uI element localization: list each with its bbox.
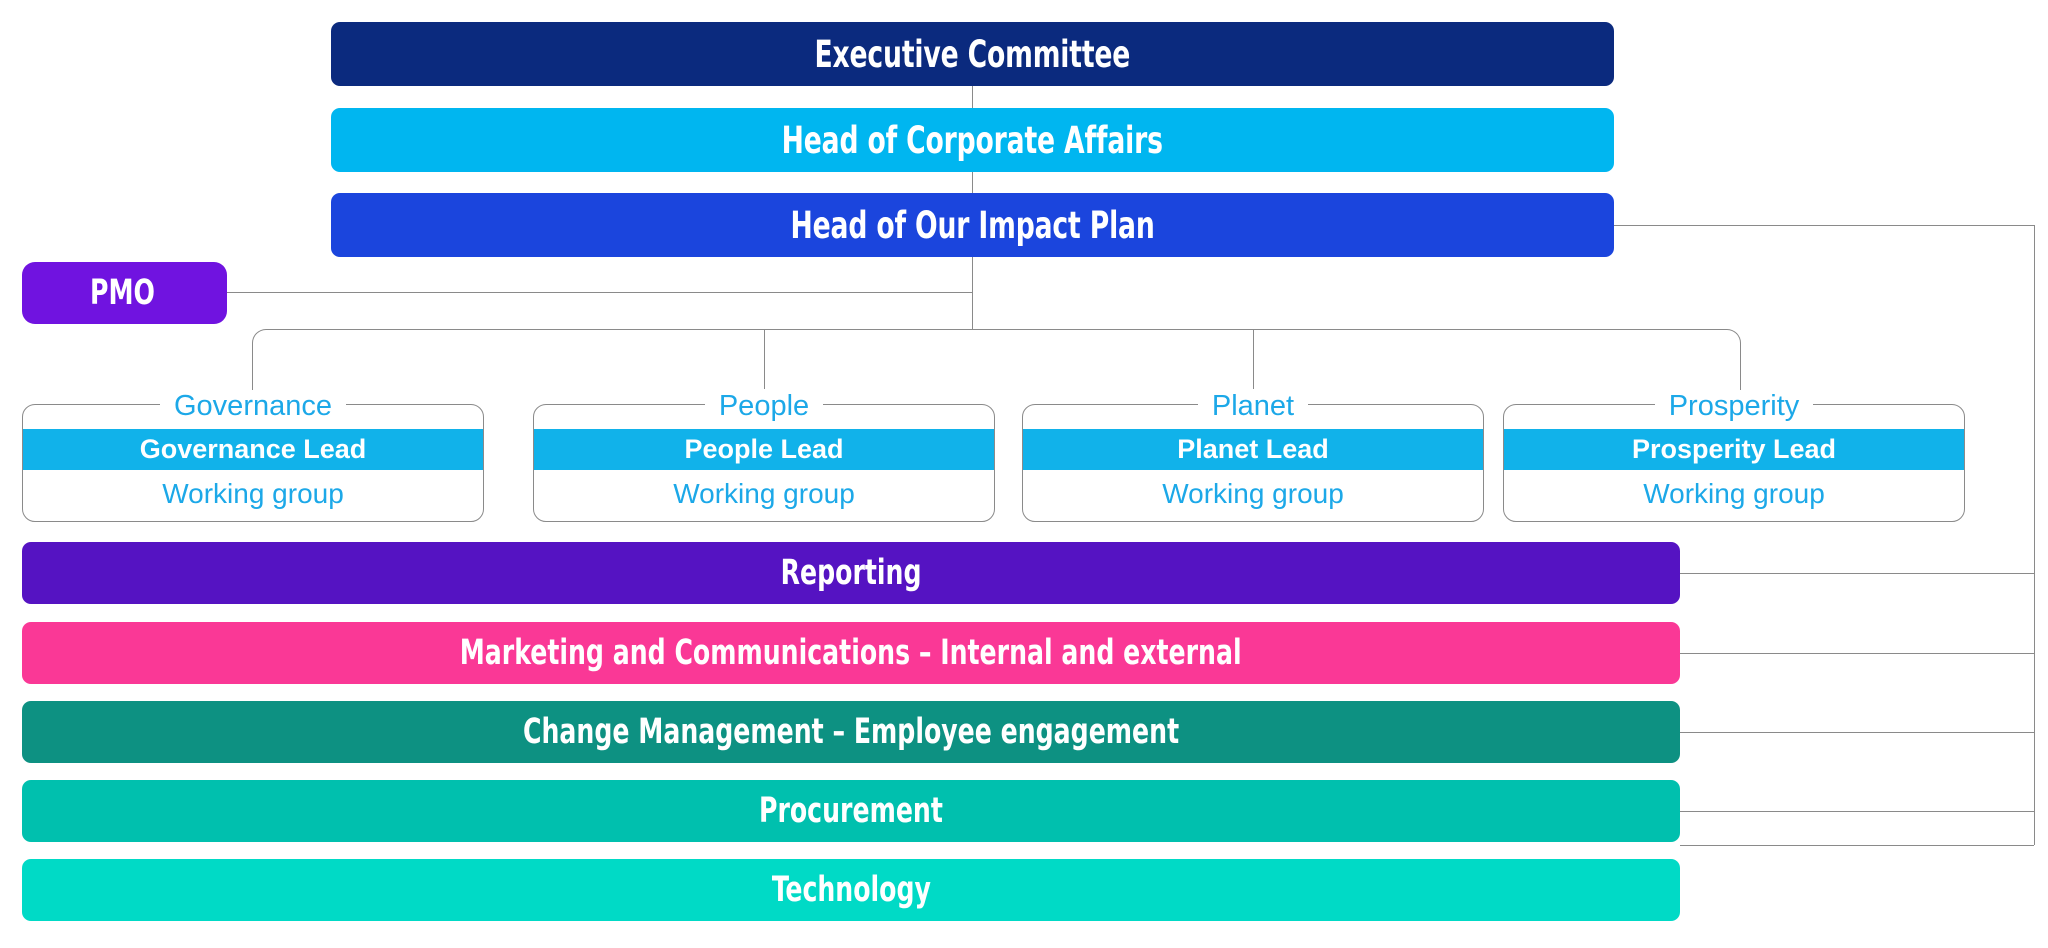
- org-chart-canvas: Executive Committee Head of Corporate Af…: [0, 0, 2048, 948]
- workstream-marketing-and-comms[interactable]: Marketing and Communications – Internal …: [22, 622, 1680, 684]
- node-label: PMO: [90, 273, 155, 313]
- connector-elbow-left: [252, 329, 283, 390]
- workstream-technology[interactable]: Technology: [22, 859, 1680, 921]
- workstream-label: Reporting: [781, 553, 922, 593]
- connector-rail-to-marketing: [1680, 653, 2034, 654]
- workstream-label: Technology: [771, 870, 930, 910]
- connector-impact-to-pillars: [972, 257, 973, 329]
- connector-rail-to-reporting: [1680, 573, 2034, 574]
- node-label: Head of Corporate Affairs: [782, 119, 1163, 162]
- connector-drop-people: [764, 329, 765, 389]
- node-head-of-corporate-affairs[interactable]: Head of Corporate Affairs: [331, 108, 1614, 172]
- pillar-governance[interactable]: Governance Governance Lead Working group: [22, 392, 484, 522]
- pillar-working-group[interactable]: Working group: [23, 474, 483, 514]
- workstream-change-management[interactable]: Change Management – Employee engagement: [22, 701, 1680, 763]
- workstream-label: Procurement: [759, 791, 943, 831]
- pillar-people[interactable]: People People Lead Working group: [533, 392, 995, 522]
- node-head-of-our-impact-plan[interactable]: Head of Our Impact Plan: [331, 193, 1614, 257]
- connector-elbow-right: [1710, 329, 1741, 390]
- pillar-lead[interactable]: People Lead: [534, 429, 994, 470]
- pillar-prosperity[interactable]: Prosperity Prosperity Lead Working group: [1503, 392, 1965, 522]
- node-executive-committee[interactable]: Executive Committee: [331, 22, 1614, 86]
- pillar-working-group[interactable]: Working group: [1023, 474, 1483, 514]
- right-rail-vertical: [2034, 225, 2035, 845]
- connector-rail-to-procurement: [1680, 811, 2034, 812]
- pillar-planet[interactable]: Planet Planet Lead Working group: [1022, 392, 1484, 522]
- pillar-working-group[interactable]: Working group: [1504, 474, 1964, 514]
- connector-exec-to-corporate: [972, 86, 973, 108]
- node-pmo[interactable]: PMO: [22, 262, 227, 324]
- workstream-reporting[interactable]: Reporting: [22, 542, 1680, 604]
- connector-pmo-to-spine: [227, 292, 973, 293]
- connector-impact-to-right-rail: [1614, 225, 2034, 226]
- node-label: Executive Committee: [815, 33, 1131, 76]
- workstream-label: Marketing and Communications – Internal …: [460, 633, 1242, 673]
- node-label: Head of Our Impact Plan: [790, 204, 1154, 247]
- connector-rail-to-change-management: [1680, 732, 2034, 733]
- pillar-lead[interactable]: Planet Lead: [1023, 429, 1483, 470]
- pillar-working-group[interactable]: Working group: [534, 474, 994, 514]
- connector-drop-planet: [1253, 329, 1254, 389]
- workstream-procurement[interactable]: Procurement: [22, 780, 1680, 842]
- connector-pillar-bus: [266, 329, 1724, 330]
- pillar-lead[interactable]: Governance Lead: [23, 429, 483, 470]
- pillar-lead[interactable]: Prosperity Lead: [1504, 429, 1964, 470]
- connector-corporate-to-impact: [972, 172, 973, 193]
- connector-rail-to-technology: [1680, 845, 2034, 846]
- workstream-label: Change Management – Employee engagement: [523, 712, 1179, 752]
